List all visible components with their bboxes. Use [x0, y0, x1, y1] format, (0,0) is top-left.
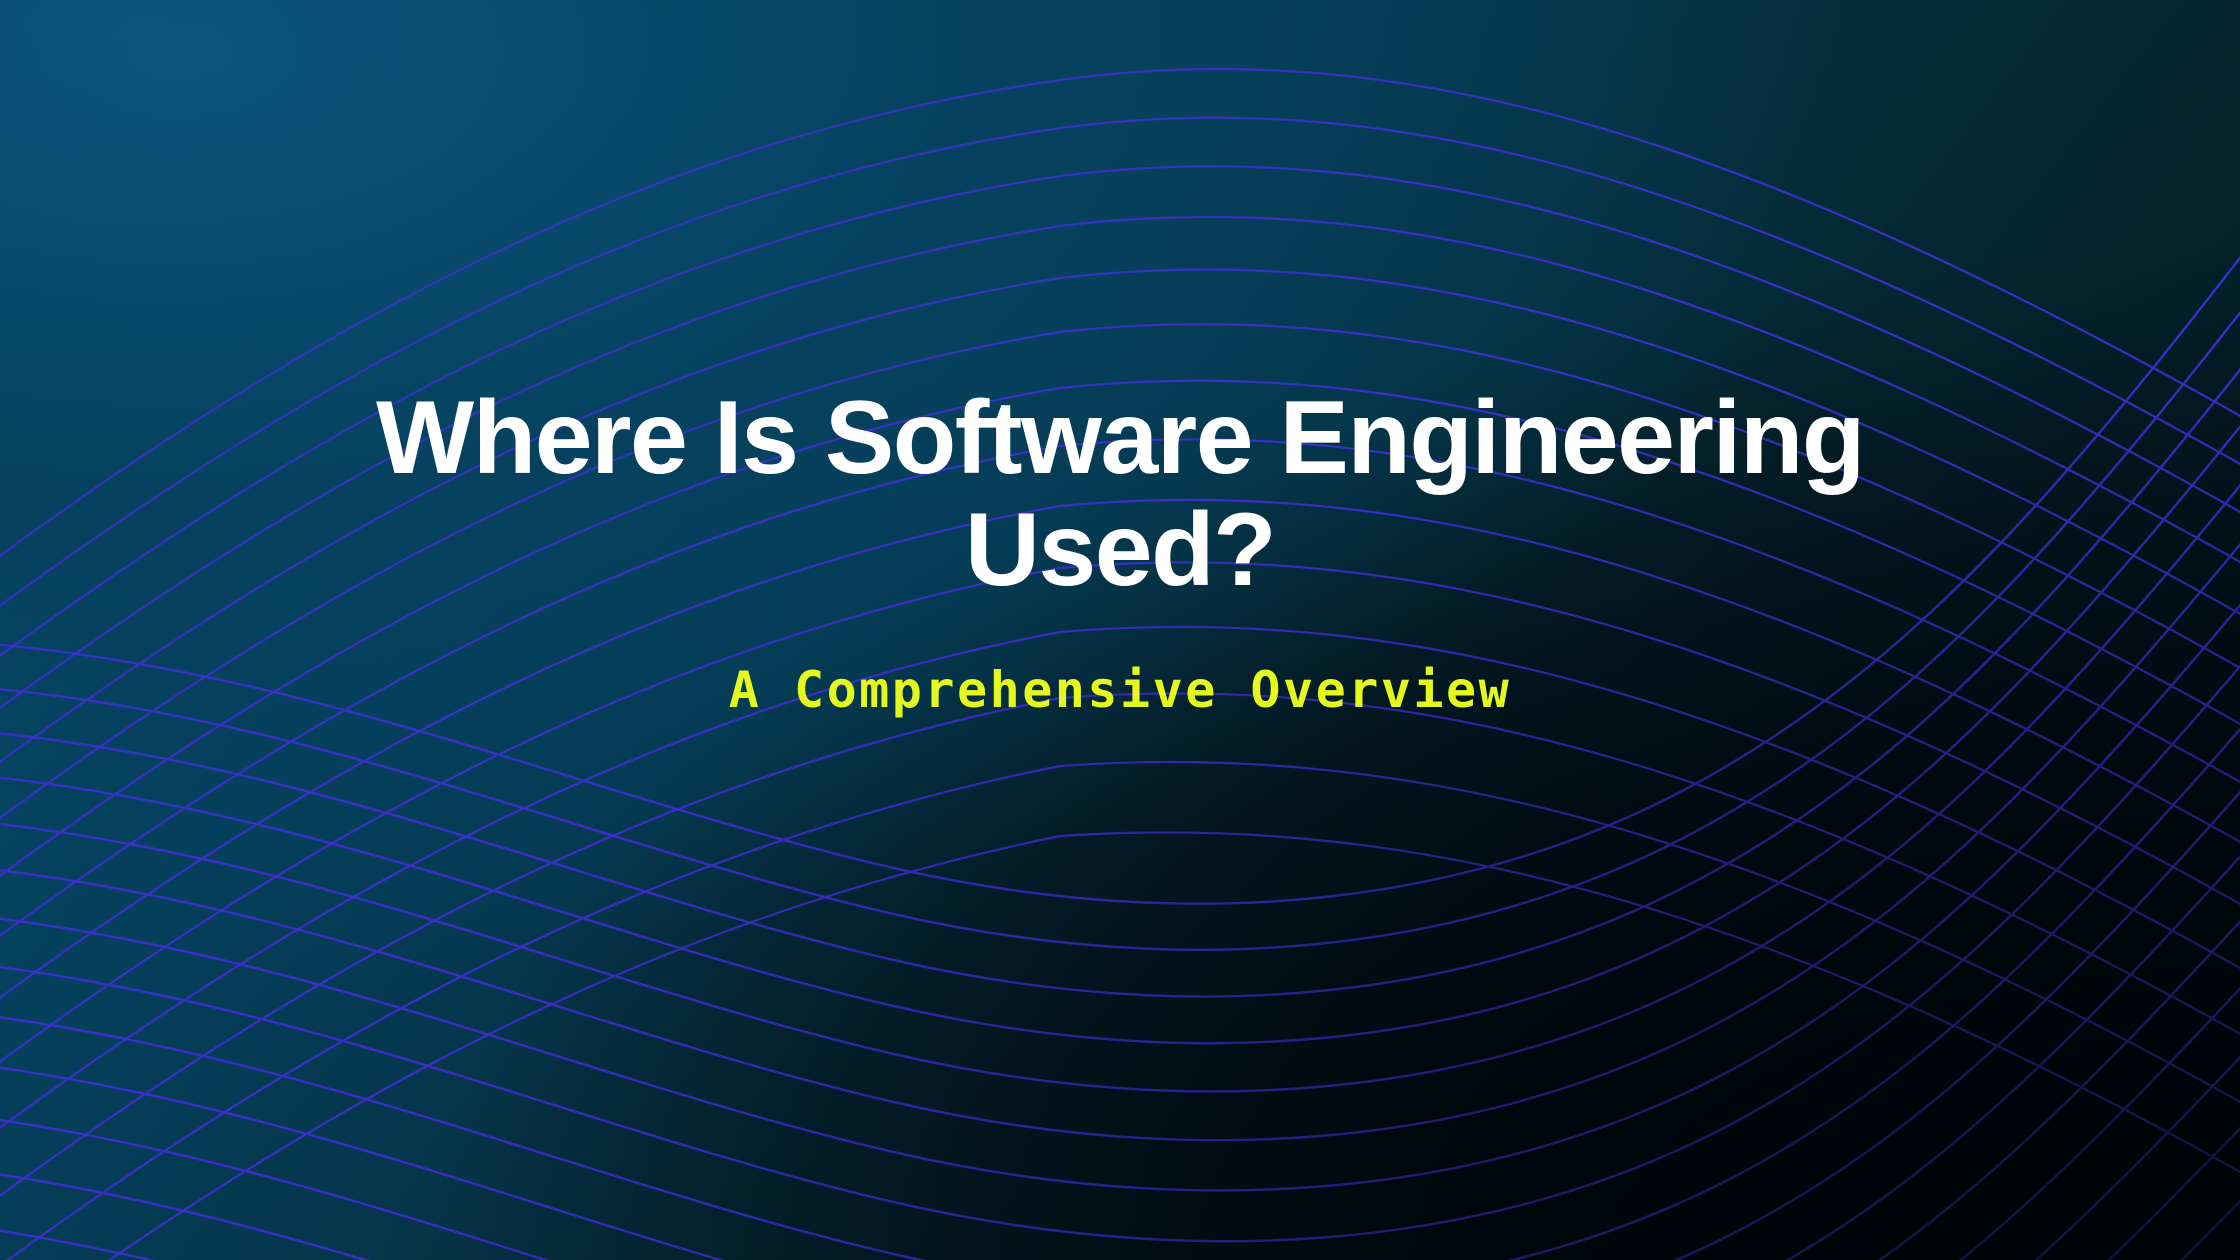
slide-content: Where Is Software Engineering Used? A Co…	[0, 0, 2240, 1260]
page-title: Where Is Software Engineering Used?	[210, 382, 2030, 607]
page-subtitle: A Comprehensive Overview	[729, 607, 1511, 718]
title-slide: Where Is Software Engineering Used? A Co…	[0, 0, 2240, 1260]
